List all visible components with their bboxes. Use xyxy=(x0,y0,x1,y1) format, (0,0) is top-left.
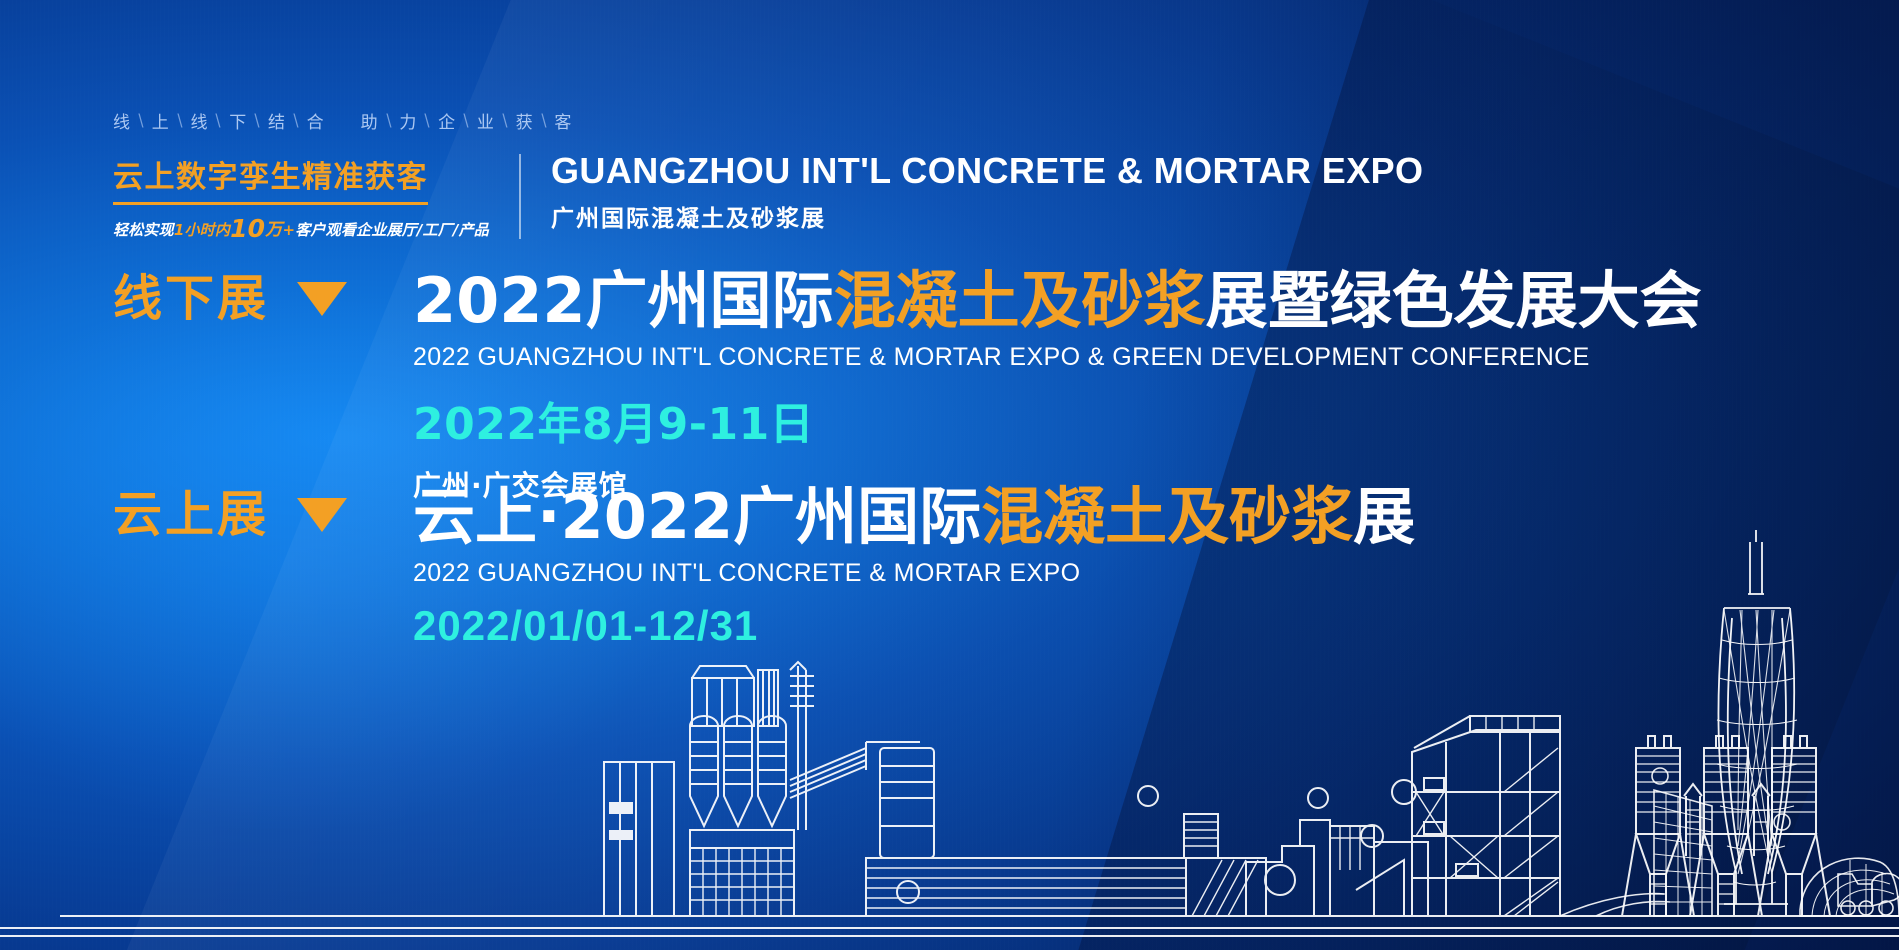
section-offline-date: 2022年8月9-11日 xyxy=(413,388,1702,452)
title-white-2: 展暨绿色发展大会 xyxy=(1206,264,1702,337)
slogan-right: 助 \ 力 \ 企 \ 业 \ 获 \ 客 xyxy=(361,108,573,133)
section-offline-body: 2022广州国际混凝土及砂浆展暨绿色发展大会 2022 GUANGZHOU IN… xyxy=(413,268,1702,504)
brand-sub-part-unit: 万 xyxy=(265,220,282,240)
expo-name-cn: 广州国际混凝土及砂浆展 xyxy=(551,199,1423,233)
slogan-separator-icon: \ xyxy=(132,111,151,131)
header-slogan: 线 \ 上 \ 线 \ 下 \ 结 \ 合 助 \ 力 \ 企 \ 业 xyxy=(113,108,1423,133)
slogan-separator-icon: \ xyxy=(248,111,267,131)
slogan-left-char-0: 线 xyxy=(113,108,131,133)
slogan-separator-icon: \ xyxy=(535,111,554,131)
slogan-separator-icon: \ xyxy=(457,111,476,131)
brand-sub-part-6: 客户观看企业展厅/工厂/产品 xyxy=(295,221,489,239)
title-orange: 混凝土及砂浆 xyxy=(834,264,1206,337)
slogan-right-char-5: 客 xyxy=(554,108,572,133)
banner-stage: 线 \ 上 \ 线 \ 下 \ 结 \ 合 助 \ 力 \ 企 \ 业 xyxy=(0,0,1899,950)
slogan-separator-icon: \ xyxy=(496,111,515,131)
expo-name-en: GUANGZHOU INT'L CONCRETE & MORTAR EXPO xyxy=(551,150,1423,192)
brand-sub-part-number: 10 xyxy=(230,214,265,243)
slogan-left-char-3: 下 xyxy=(229,108,247,133)
title-white-1: 云上·2022广州国际 xyxy=(413,480,981,553)
brand-right: GUANGZHOU INT'L CONCRETE & MORTAR EXPO 广… xyxy=(551,150,1423,233)
brand-header: 线 \ 上 \ 线 \ 下 \ 结 \ 合 助 \ 力 \ 企 \ 业 xyxy=(113,108,1423,243)
brand-divider xyxy=(519,154,521,239)
section-online-date: 2022/01/01-12/31 xyxy=(413,602,1415,650)
section-online-title: 云上·2022广州国际混凝土及砂浆展 xyxy=(413,484,1415,549)
brand-tagline-sub: 轻松实现1小时内10万+客户观看企业展厅/工厂/产品 xyxy=(113,214,489,243)
slogan-separator-icon: \ xyxy=(171,111,190,131)
brand-left: 云上数字孪生精准获客 轻松实现1小时内10万+客户观看企业展厅/工厂/产品 xyxy=(113,150,489,243)
slogan-left-char-5: 合 xyxy=(307,108,325,133)
slogan-separator-icon: \ xyxy=(380,111,399,131)
section-online-tag: 云上展 xyxy=(113,484,413,539)
section-online: 云上展 云上·2022广州国际混凝土及砂浆展 2022 GUANGZHOU IN… xyxy=(113,484,1415,650)
slogan-right-char-3: 业 xyxy=(477,108,495,133)
slogan-right-char-4: 获 xyxy=(516,108,534,133)
section-offline-tag: 线下展 xyxy=(113,268,413,323)
brand-sub-part-2: 1小时内 xyxy=(174,221,230,239)
section-offline-title: 2022广州国际混凝土及砂浆展暨绿色发展大会 xyxy=(413,268,1702,333)
triangle-down-icon xyxy=(297,282,347,316)
section-offline-tag-label: 线下展 xyxy=(113,274,269,323)
section-online-subtitle-en: 2022 GUANGZHOU INT'L CONCRETE & MORTAR E… xyxy=(413,559,1415,588)
slogan-left-char-4: 结 xyxy=(268,108,286,133)
section-online-tag-label: 云上展 xyxy=(113,490,269,539)
slogan-left-char-1: 上 xyxy=(152,108,170,133)
title-orange: 混凝土及砂浆 xyxy=(981,480,1353,553)
brand-sub-part-1: 轻松实现 xyxy=(113,221,174,239)
section-offline-subtitle-en: 2022 GUANGZHOU INT'L CONCRETE & MORTAR E… xyxy=(413,343,1702,372)
section-offline: 线下展 2022广州国际混凝土及砂浆展暨绿色发展大会 2022 GUANGZHO… xyxy=(113,268,1702,504)
brand-sub-part-plus: + xyxy=(282,221,295,239)
title-white-1: 2022广州国际 xyxy=(413,264,834,337)
slogan-separator-icon: \ xyxy=(418,111,437,131)
title-white-2: 展 xyxy=(1353,480,1415,553)
slogan-separator-icon: \ xyxy=(210,111,229,131)
slogan-left-char-2: 线 xyxy=(190,108,208,133)
slogan-left: 线 \ 上 \ 线 \ 下 \ 结 \ 合 xyxy=(113,108,325,133)
brand-tagline-cn: 云上数字孪生精准获客 xyxy=(113,152,428,205)
section-online-body: 云上·2022广州国际混凝土及砂浆展 2022 GUANGZHOU INT'L … xyxy=(413,484,1415,650)
brand-row: 云上数字孪生精准获客 轻松实现1小时内10万+客户观看企业展厅/工厂/产品 GU… xyxy=(113,150,1423,243)
slogan-right-char-0: 助 xyxy=(361,108,379,133)
triangle-down-icon xyxy=(297,498,347,532)
slogan-right-char-2: 企 xyxy=(438,108,456,133)
slogan-right-char-1: 力 xyxy=(399,108,417,133)
slogan-separator-icon: \ xyxy=(287,111,306,131)
